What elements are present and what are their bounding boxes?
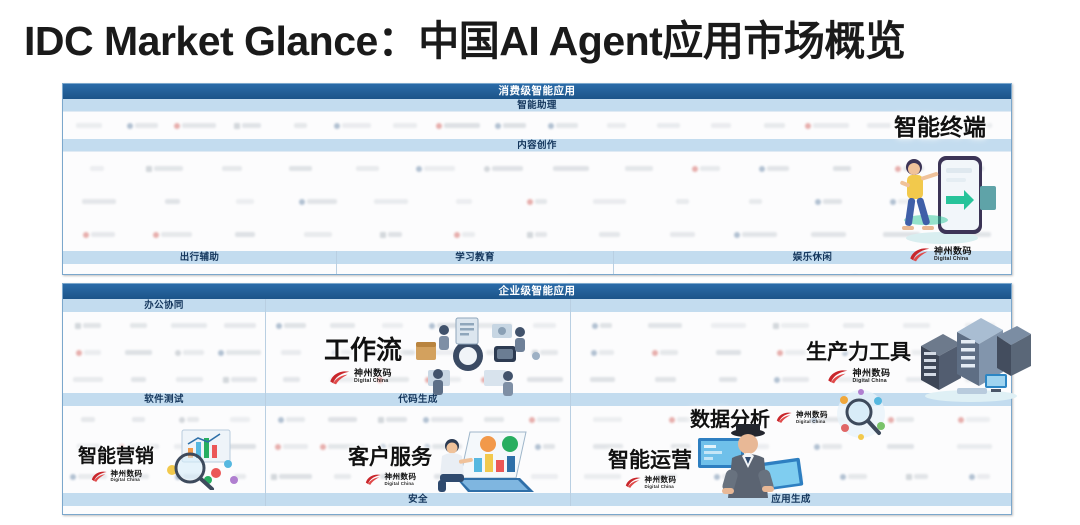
column-office-collaboration: 办公协同 bbox=[63, 299, 265, 393]
vendor-logo bbox=[63, 377, 114, 382]
vendor-logo bbox=[634, 350, 697, 356]
vendor-logo bbox=[274, 123, 327, 128]
vendor-logo bbox=[646, 199, 719, 204]
brand-name-cn: 神州数码 bbox=[385, 473, 417, 481]
vendor-logo bbox=[164, 417, 215, 423]
logo-row bbox=[337, 264, 613, 274]
callout-label-productivity-tools: 生产力工具 bbox=[806, 336, 911, 366]
vendor-logo bbox=[367, 417, 418, 423]
vendor-logo bbox=[168, 123, 221, 129]
vendor-logo bbox=[116, 123, 169, 129]
vendor-logo bbox=[266, 417, 317, 423]
brand-logo-digital-china: 神州数码 Digital China bbox=[90, 470, 143, 483]
vendor-logo bbox=[697, 323, 760, 328]
swoosh-icon bbox=[908, 246, 931, 263]
vendor-logo bbox=[634, 377, 697, 382]
vendor-logo bbox=[571, 377, 634, 382]
vendor-logo bbox=[379, 123, 432, 128]
logo-row bbox=[63, 312, 265, 339]
brand-name-cn: 神州数码 bbox=[354, 369, 392, 378]
vendor-logo bbox=[114, 377, 165, 382]
brand-name-cn: 神州数码 bbox=[796, 411, 828, 419]
vendor-logo bbox=[164, 350, 215, 356]
logo-row bbox=[63, 506, 1011, 514]
column-label-travel-assist: 出行辅助 bbox=[63, 251, 336, 264]
vendor-logo bbox=[215, 350, 266, 356]
enterprise-panel-header: 企业级智能应用 bbox=[63, 284, 1011, 299]
swoosh-icon bbox=[90, 470, 108, 483]
vendor-logo bbox=[355, 232, 428, 238]
vendor-logo bbox=[266, 377, 317, 382]
logo-row bbox=[63, 185, 1011, 218]
column-label-office-collaboration: 办公协同 bbox=[63, 299, 265, 312]
vendor-logo bbox=[209, 199, 282, 204]
callout-label-workflow: 工作流 bbox=[324, 330, 402, 367]
logo-row bbox=[63, 112, 1011, 139]
businessman-dashboard-icon bbox=[692, 424, 804, 509]
vendor-logo bbox=[428, 199, 501, 204]
logo-row bbox=[63, 366, 265, 393]
brand-logo-digital-china: 神州数码 Digital China bbox=[826, 368, 890, 385]
vendor-logo bbox=[501, 199, 574, 205]
callout-label-customer-service: 客户服务 bbox=[348, 441, 432, 471]
brand-name-en: Digital China bbox=[354, 379, 392, 384]
vendor-logo bbox=[501, 232, 574, 238]
vendor-logo bbox=[938, 444, 1011, 449]
logo-row bbox=[614, 264, 1011, 274]
vendor-logo bbox=[355, 199, 428, 204]
vendor-logo bbox=[63, 323, 114, 329]
vendor-logo bbox=[266, 323, 317, 329]
vendor-logo bbox=[63, 232, 136, 238]
consumer-panel-header: 消费级智能应用 bbox=[63, 84, 1011, 99]
brand-name-cn: 神州数码 bbox=[111, 470, 143, 478]
vendor-logo bbox=[642, 123, 695, 128]
person-phone-icon bbox=[880, 142, 1000, 252]
vendor-logo bbox=[719, 199, 792, 204]
vendor-logo bbox=[537, 166, 605, 171]
callout-customer-service: 客户服务 神州数码 Digital China bbox=[348, 424, 538, 503]
vendor-logo bbox=[740, 166, 808, 172]
vendor-logo bbox=[215, 377, 266, 383]
brand-name-cn: 神州数码 bbox=[934, 247, 972, 256]
column-label-blank-1 bbox=[266, 299, 570, 312]
vendor-logo bbox=[209, 232, 282, 237]
logo-row bbox=[63, 152, 1011, 185]
swoosh-icon bbox=[328, 369, 351, 386]
vendor-logo bbox=[885, 474, 948, 480]
vendor-logo bbox=[590, 123, 643, 128]
vendor-logo bbox=[114, 417, 165, 422]
vendor-logo bbox=[948, 474, 1011, 480]
swoosh-icon bbox=[775, 411, 793, 424]
column-learning-education: 学习教育 bbox=[336, 251, 613, 274]
vendor-logo bbox=[266, 166, 334, 171]
column-label-software-testing: 软件测试 bbox=[63, 393, 265, 406]
brand-name-en: Digital China bbox=[385, 482, 417, 486]
vendor-logo bbox=[537, 123, 590, 129]
vendor-logo bbox=[282, 199, 355, 205]
callout-smart-marketing: 智能营销 神州数码 Digital China bbox=[78, 428, 246, 495]
vendor-logo bbox=[519, 417, 570, 423]
brand-name-en: Digital China bbox=[645, 485, 677, 489]
vendor-logo bbox=[215, 323, 266, 328]
brand-logo-digital-china: 神州数码 Digital China bbox=[624, 476, 677, 489]
vendor-logo bbox=[822, 474, 885, 480]
vendor-logo bbox=[573, 232, 646, 237]
vendor-logo bbox=[571, 323, 634, 329]
brand-name-cn: 神州数码 bbox=[852, 369, 890, 378]
logo-row bbox=[63, 264, 336, 274]
vendor-logo bbox=[792, 232, 865, 237]
vendor-logo bbox=[695, 123, 748, 128]
vendor-logo bbox=[63, 417, 114, 422]
vendor-logo bbox=[748, 123, 801, 128]
vendor-logo bbox=[266, 474, 317, 480]
column-label-learning-education: 学习教育 bbox=[337, 251, 613, 264]
vendor-logo bbox=[326, 123, 379, 129]
vendor-logo bbox=[800, 123, 853, 129]
callout-smart-operations: 智能运营 神州数码 Digital China bbox=[608, 424, 804, 509]
callout-label-smart-terminal: 智能终端 bbox=[894, 108, 986, 142]
swoosh-icon bbox=[624, 476, 642, 489]
vendor-logo bbox=[672, 166, 740, 172]
swoosh-icon bbox=[364, 473, 382, 486]
swoosh-icon bbox=[826, 368, 849, 385]
vendor-logo bbox=[938, 417, 1011, 423]
vendor-logo bbox=[114, 350, 165, 355]
vendor-logo bbox=[136, 232, 209, 238]
brand-name-en: Digital China bbox=[852, 379, 890, 384]
brand-logo-digital-china: 神州数码 Digital China bbox=[328, 369, 392, 386]
vendor-logo bbox=[571, 417, 644, 422]
section-label-smart-assistant: 智能助理 bbox=[63, 99, 1011, 112]
vendor-logo bbox=[63, 350, 114, 356]
vendor-logo bbox=[131, 166, 199, 172]
vendor-logo bbox=[634, 323, 697, 328]
vendor-logo bbox=[697, 377, 760, 382]
consumer-subcategory-columns: 出行辅助 学习教育 娱乐休闲 bbox=[63, 251, 1011, 274]
vendor-logo bbox=[719, 232, 792, 238]
vendor-logo bbox=[266, 444, 317, 450]
column-label-blank-2 bbox=[571, 299, 1011, 312]
column-travel-assist: 出行辅助 bbox=[63, 251, 336, 274]
slide-canvas: IDC Market Glance：中国AI Agent应用市场概览 消费级智能… bbox=[0, 0, 1080, 525]
vendor-logo bbox=[114, 323, 165, 328]
callout-workflow: 工作流 神州数码 Digital China bbox=[324, 312, 548, 403]
vendor-logo bbox=[266, 350, 317, 355]
vendor-logo bbox=[136, 199, 209, 204]
brand-logo-digital-china: 神州数码 Digital China bbox=[908, 246, 972, 263]
brand-name-en: Digital China bbox=[934, 257, 972, 262]
vendor-logo bbox=[63, 123, 116, 128]
brand-name-cn: 神州数码 bbox=[645, 476, 677, 484]
vendor-logo bbox=[164, 323, 215, 328]
laptop-person-icon bbox=[430, 424, 538, 503]
vendor-logo bbox=[808, 166, 876, 171]
brand-name-en: Digital China bbox=[111, 478, 143, 482]
vendor-logo bbox=[484, 123, 537, 129]
vendor-logo bbox=[334, 166, 402, 171]
vendor-logo bbox=[469, 417, 520, 422]
vendor-logo bbox=[432, 123, 485, 129]
server-rack-icon bbox=[913, 312, 1031, 409]
vendor-logo bbox=[63, 199, 136, 204]
magnifier-data-icon bbox=[832, 388, 892, 447]
vendor-logo bbox=[221, 123, 274, 129]
vendor-logo bbox=[317, 417, 368, 422]
vendor-logo bbox=[63, 166, 131, 171]
logo-row bbox=[63, 339, 265, 366]
vendor-logo bbox=[792, 199, 865, 205]
consumer-applications-panel: 消费级智能应用 智能助理 内容创作 出行辅助 学习教育 bbox=[62, 83, 1012, 275]
vendor-logo bbox=[469, 166, 537, 172]
vendor-logo bbox=[215, 417, 266, 422]
vendor-logo bbox=[418, 417, 469, 423]
brand-logo-digital-china: 神州数码 Digital China bbox=[775, 411, 828, 424]
vendor-logo bbox=[605, 166, 673, 171]
logo-row bbox=[63, 218, 1011, 251]
vendor-logo bbox=[571, 350, 634, 356]
vendor-logo bbox=[646, 232, 719, 237]
vendor-logo bbox=[198, 166, 266, 171]
vendor-logo bbox=[402, 166, 470, 172]
brand-logo-digital-china: 神州数码 Digital China bbox=[364, 473, 417, 486]
callout-smart-terminal: 智能终端 bbox=[880, 108, 1000, 263]
page-title: IDC Market Glance：中国AI Agent应用市场概览 bbox=[24, 16, 1064, 66]
callout-label-smart-operations: 智能运营 bbox=[608, 444, 692, 474]
vendor-logo bbox=[164, 377, 215, 382]
vendor-logo bbox=[282, 232, 355, 237]
vendor-logo bbox=[697, 350, 760, 355]
vendor-logo bbox=[573, 199, 646, 204]
magnifier-chart-icon bbox=[156, 428, 246, 495]
vendor-logo bbox=[428, 232, 501, 238]
callout-label-smart-marketing: 智能营销 bbox=[78, 441, 154, 468]
workflow-people-icon bbox=[398, 312, 548, 403]
section-label-content-creation: 内容创作 bbox=[63, 139, 1011, 152]
